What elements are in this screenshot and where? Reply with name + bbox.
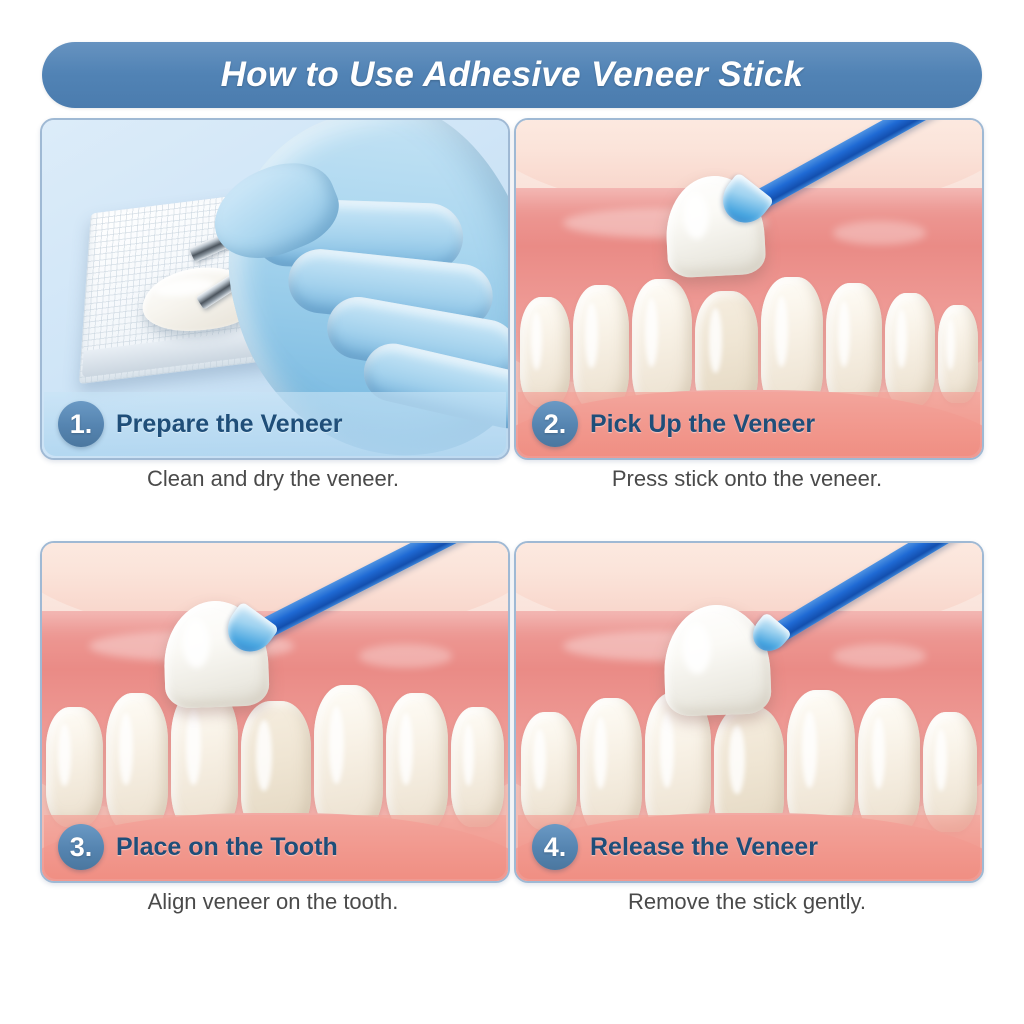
step-1-caption: Clean and dry the veneer. (40, 466, 506, 492)
step-2-number-badge: 2. (532, 401, 578, 447)
step-4-number-badge: 4. (532, 824, 578, 870)
step-card-3: 3. Place on the Tooth Align veneer on th… (40, 541, 510, 926)
step-2-title: Pick Up the Veneer (590, 410, 815, 439)
tooth (923, 712, 977, 832)
gum-highlight-right (359, 644, 452, 668)
step-card-4: 4. Release the Veneer Remove the stick g… (514, 541, 984, 926)
step-3-caption: Align veneer on the tooth. (40, 889, 506, 915)
tooth (386, 693, 449, 833)
step-2-caption: Press stick onto the veneer. (514, 466, 980, 492)
step-3-number-badge: 3. (58, 824, 104, 870)
page-title-bar: How to Use Adhesive Veneer Stick (42, 42, 982, 108)
steps-grid: 1. Prepare the Veneer Clean and dry the … (40, 118, 984, 958)
step-2-illustration-panel: 2. Pick Up the Veneer (514, 118, 984, 460)
tooth (106, 693, 169, 833)
step-3-title: Place on the Tooth (116, 833, 338, 862)
step-3-label-band: 3. Place on the Tooth (44, 815, 506, 879)
tooth (521, 712, 577, 830)
step-card-1: 1. Prepare the Veneer Clean and dry the … (40, 118, 510, 503)
gum-highlight-right (833, 644, 926, 668)
step-4-caption: Remove the stick gently. (514, 889, 980, 915)
step-card-2: 2. Pick Up the Veneer Press stick onto t… (514, 118, 984, 503)
tooth (520, 297, 570, 407)
gum-highlight-right (833, 221, 926, 245)
step-1-label-band: 1. Prepare the Veneer (44, 392, 506, 456)
step-4-title: Release the Veneer (590, 833, 818, 862)
step-1-number-badge: 1. (58, 401, 104, 447)
tooth (938, 305, 978, 403)
step-3-illustration-panel: 3. Place on the Tooth (40, 541, 510, 883)
step-1-illustration-panel: 1. Prepare the Veneer (40, 118, 510, 460)
page-title: How to Use Adhesive Veneer Stick (221, 55, 804, 95)
tooth (451, 707, 504, 827)
step-4-illustration-panel: 4. Release the Veneer (514, 541, 984, 883)
step-4-label-band: 4. Release the Veneer (518, 815, 980, 879)
tooth (46, 707, 103, 827)
step-2-label-band: 2. Pick Up the Veneer (518, 392, 980, 456)
tooth (885, 293, 935, 407)
step-1-title: Prepare the Veneer (116, 410, 343, 439)
